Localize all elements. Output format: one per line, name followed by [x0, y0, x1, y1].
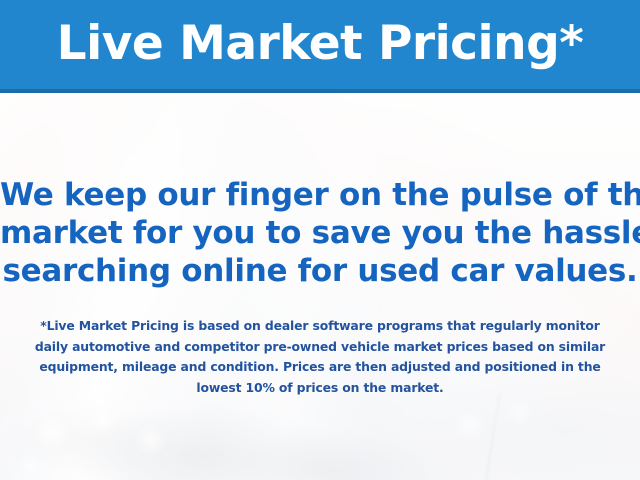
headline-line-1: We keep our finger on the pulse of the: [0, 176, 640, 214]
footnote-line-2: daily automotive and competitor pre-owne…: [20, 337, 620, 358]
headline-text: We keep our finger on the pulse of the m…: [0, 176, 640, 290]
header-banner-underline: [0, 89, 640, 93]
footnote-disclaimer: *Live Market Pricing is based on dealer …: [20, 316, 620, 398]
footnote-line-1: *Live Market Pricing is based on dealer …: [20, 316, 620, 337]
live-market-pricing-card: Live Market Pricing* We keep our finger …: [0, 0, 640, 480]
headline-line-3: searching online for used car values.: [0, 252, 640, 290]
headline-line-2: market for you to save you the hassle of: [0, 214, 640, 252]
footnote-line-3: equipment, mileage and condition. Prices…: [20, 357, 620, 378]
footnote-line-4: lowest 10% of prices on the market.: [20, 378, 620, 399]
page-title: Live Market Pricing*: [0, 13, 640, 75]
